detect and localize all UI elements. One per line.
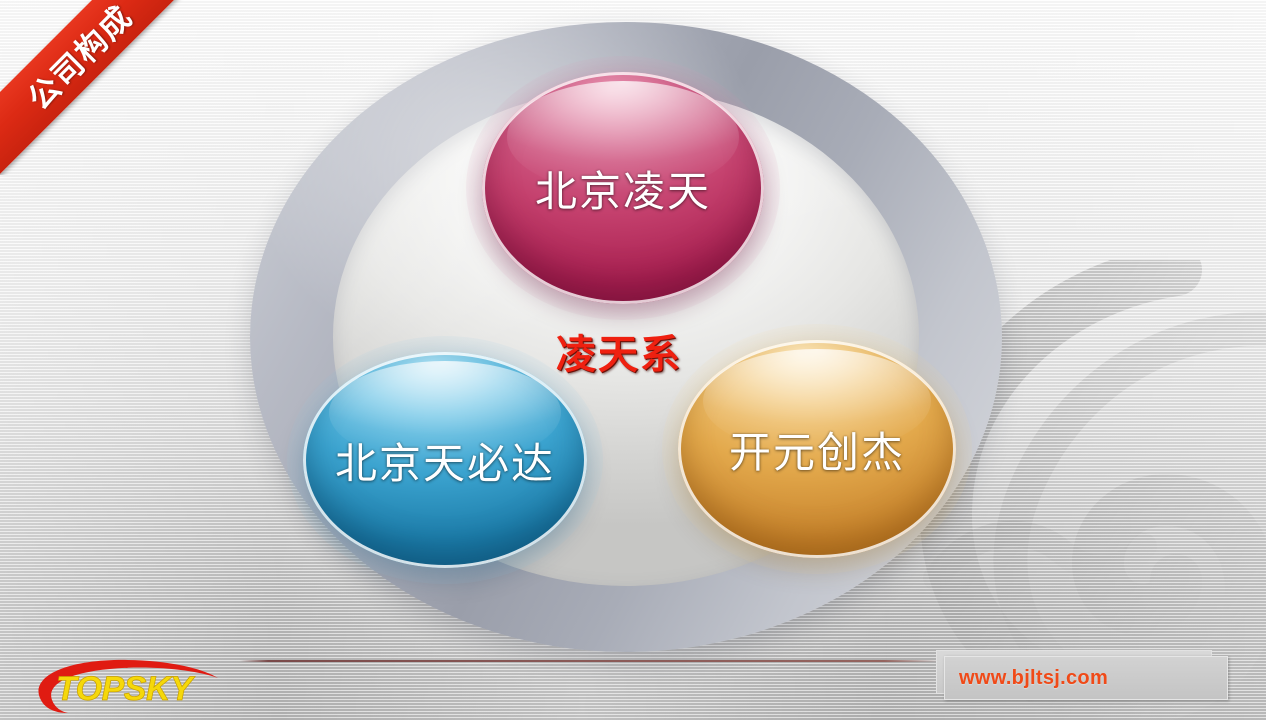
topsky-logo: TOPSKY [22,656,227,714]
sphere-beijing-tianbida[interactable]: 北京天必达 [303,352,587,568]
sphere-label-tianbida: 北京天必达 [335,430,555,491]
sphere-beijing-lingtian[interactable]: 北京凌天 [482,72,764,304]
url-plaque-face: www.bjltsj.com [944,656,1228,700]
sphere-label-lingtian: 北京凌天 [535,158,711,219]
center-group-caption: 凌天系 [556,322,682,380]
logo-wordmark: TOPSKY [56,670,196,708]
corner-ribbon: 公司构成 [0,0,215,175]
website-url[interactable]: www.bjltsj.com [945,667,1108,690]
sphere-label-kaiyuan: 开元创杰 [729,419,905,480]
ribbon-label: 公司构成 [15,0,140,118]
url-plaque[interactable]: www.bjltsj.com [936,650,1228,704]
sphere-kaiyuan-chuangjie[interactable]: 开元创杰 [678,340,956,558]
footer-divider-line [240,660,940,662]
ribbon-band: 公司构成 [0,0,205,175]
presentation-slide: 北京凌天 北京天必达 开元创杰 凌天系 公司构成 TOPSKY www.bjlt… [0,0,1266,720]
